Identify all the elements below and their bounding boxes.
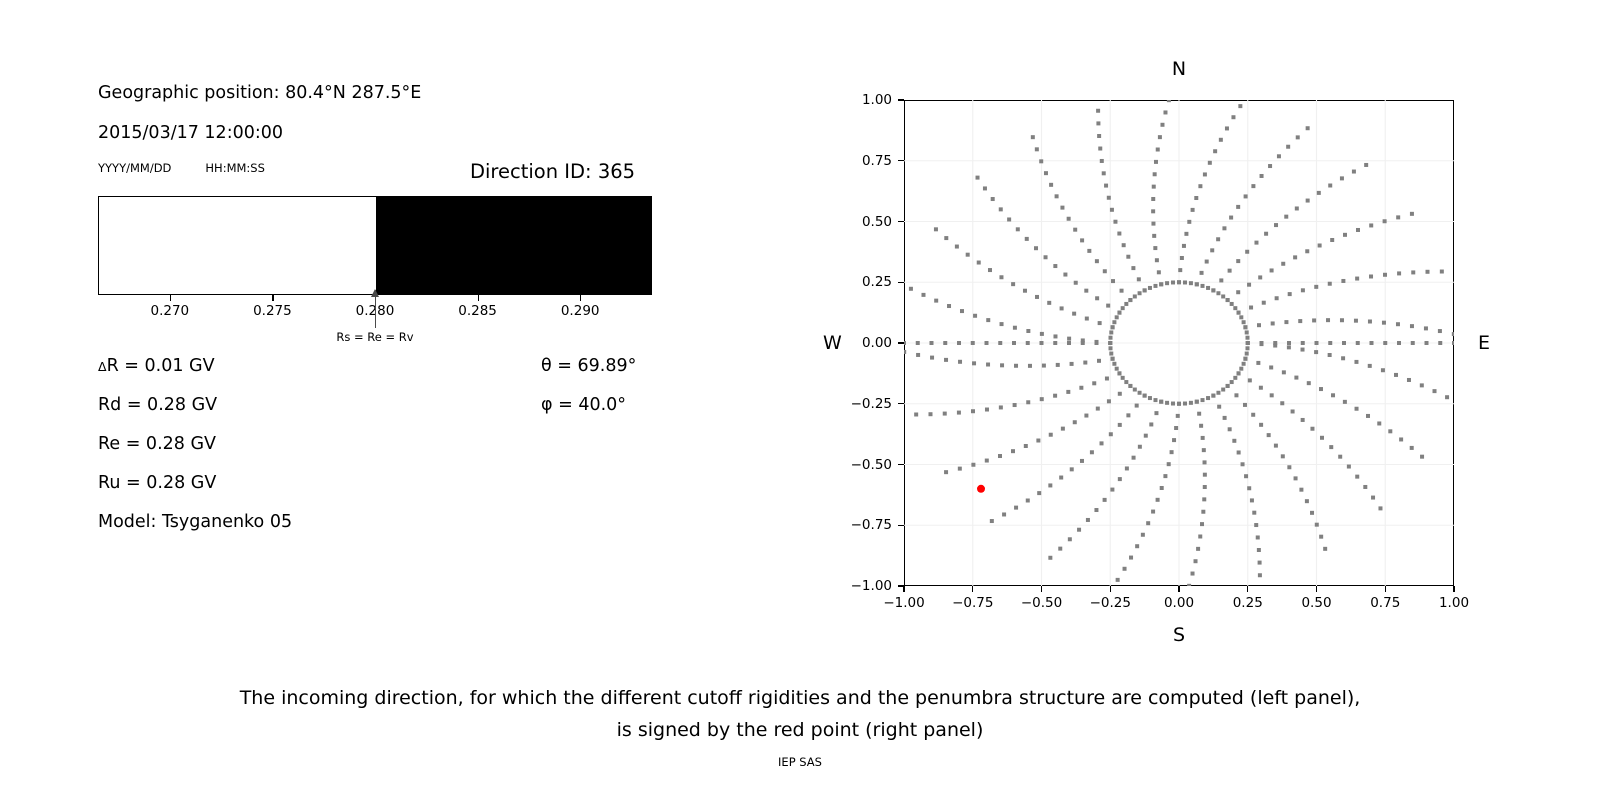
x-axis-tick-label: 0.25: [1233, 595, 1263, 611]
direction-id-label: Direction ID: 365: [470, 160, 635, 183]
x-axis-tick: [1385, 586, 1386, 592]
y-axis-tick-label: −0.75: [851, 517, 892, 533]
x-axis-tick: [1178, 586, 1179, 592]
caption-line-2: is signed by the red point (right panel): [0, 719, 1600, 741]
geographic-position-label: Geographic position: 80.4°N 287.5°E: [98, 83, 421, 103]
penumbra-axis-tick: [478, 295, 479, 301]
penumbra-axis-tick-label: 0.270: [150, 303, 189, 319]
datetime-label: 2015/03/17 12:00:00: [98, 123, 283, 143]
y-axis-tick-label: −0.25: [851, 396, 892, 412]
direction-scatter-svg: [904, 100, 1454, 586]
y-axis-tick-label: 0.00: [862, 335, 892, 351]
x-axis-tick: [903, 586, 904, 592]
penumbra-axis-tick-label: 0.285: [458, 303, 497, 319]
y-axis-tick: [898, 99, 904, 100]
x-axis-tick-label: −0.50: [1021, 595, 1062, 611]
x-axis-tick-label: 0.50: [1301, 595, 1331, 611]
date-format-hint: YYYY/MM/DD: [98, 161, 171, 175]
y-axis-tick: [898, 221, 904, 222]
value-model: Model: Tsyganenko 05: [98, 512, 292, 532]
y-axis-tick-label: 0.50: [862, 214, 892, 230]
compass-label-north: N: [1172, 58, 1186, 80]
footer-label: IEP SAS: [0, 755, 1600, 769]
direction-map-plot: −1.00−0.75−0.50−0.250.000.250.500.751.00…: [904, 100, 1454, 586]
value-rd: Rd = 0.28 GV: [98, 395, 217, 415]
time-format-hint: HH:MM:SS: [205, 161, 265, 175]
y-axis-tick: [898, 403, 904, 404]
penumbra-forbidden-band: [376, 197, 652, 294]
y-axis-tick-label: −0.50: [851, 457, 892, 473]
penumbra-axis-tick: [170, 295, 171, 301]
caption-line-1: The incoming direction, for which the di…: [0, 687, 1600, 709]
y-axis-tick: [898, 282, 904, 283]
value-re: Re = 0.28 GV: [98, 434, 216, 454]
x-axis-tick: [972, 586, 973, 592]
value-phi: φ = 40.0°: [541, 395, 626, 415]
x-axis-tick: [1316, 586, 1317, 592]
x-axis-tick: [1247, 586, 1248, 592]
penumbra-axis-tick: [272, 295, 273, 301]
x-axis-tick: [1453, 586, 1454, 592]
rs-marker-label: Rs = Re = Rv: [336, 330, 413, 344]
x-axis-tick-label: −0.25: [1090, 595, 1131, 611]
x-axis-tick: [1041, 586, 1042, 592]
x-axis-tick-label: −0.75: [952, 595, 993, 611]
x-axis-tick-label: 1.00: [1439, 595, 1469, 611]
penumbra-bar: [98, 196, 652, 295]
value-delta-r: ΔR = 0.01 GV: [98, 356, 215, 376]
value-theta: θ = 69.89°: [541, 356, 636, 376]
y-axis-tick-label: −1.00: [851, 578, 892, 594]
y-axis-tick-label: 0.75: [862, 153, 892, 169]
penumbra-axis-tick-label: 0.290: [561, 303, 600, 319]
compass-label-west: W: [823, 332, 842, 354]
penumbra-axis-tick-label: 0.275: [253, 303, 292, 319]
x-axis-tick-label: 0.00: [1164, 595, 1194, 611]
y-axis-tick: [898, 342, 904, 343]
delta-symbol: Δ: [98, 359, 107, 374]
y-axis-tick: [898, 464, 904, 465]
y-axis-tick: [898, 160, 904, 161]
penumbra-axis-tick: [580, 295, 581, 301]
datetime-format-hint: YYYY/MM/DDHH:MM:SS: [98, 161, 265, 175]
x-axis-tick-label: 0.75: [1370, 595, 1400, 611]
y-axis-tick-label: 1.00: [862, 92, 892, 108]
y-axis-tick: [898, 525, 904, 526]
selected-direction-point: [977, 485, 985, 493]
x-axis-tick: [1110, 586, 1111, 592]
y-axis-tick-label: 0.25: [862, 274, 892, 290]
compass-label-south: S: [1173, 624, 1185, 646]
value-delta-r-text: R = 0.01 GV: [107, 356, 215, 376]
x-axis-tick-label: −1.00: [883, 595, 924, 611]
compass-label-east: E: [1478, 332, 1490, 354]
value-ru: Ru = 0.28 GV: [98, 473, 216, 493]
